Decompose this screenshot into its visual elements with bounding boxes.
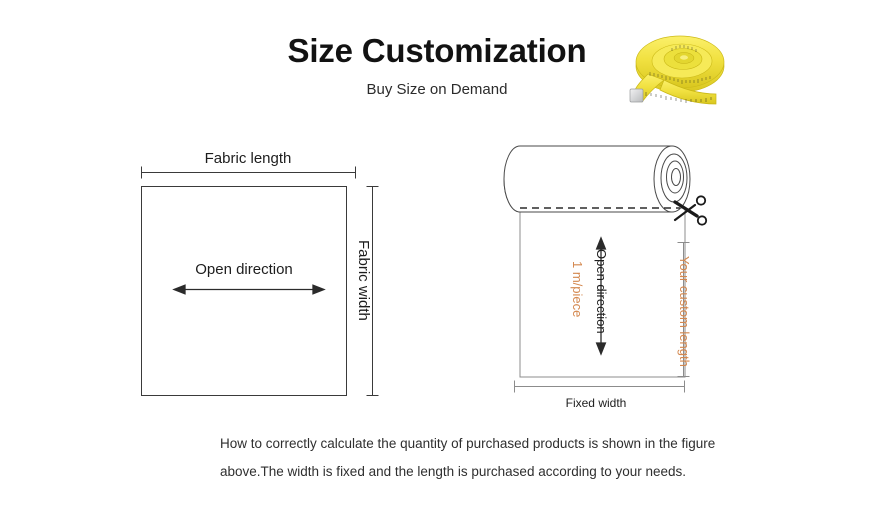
open-direction-label-left: Open direction (141, 261, 347, 278)
custom-length-label: Your custom length (678, 256, 691, 367)
page-subtitle: Buy Size on Demand (0, 81, 874, 98)
open-direction-label-right: Open direction (595, 249, 608, 334)
tape-measure-icon (618, 28, 730, 120)
fabric-width-label: Fabric width (356, 240, 371, 321)
fixed-width-dimension-line (515, 381, 685, 393)
caption-text: How to correctly calculate the quantity … (220, 430, 720, 485)
fabric-length-dimension-line (135, 164, 363, 182)
fabric-roll-diagram (498, 130, 733, 420)
size-customization-infographic: Size Customization Buy Size on Demand (0, 0, 874, 509)
page-title: Size Customization (0, 33, 874, 69)
open-direction-arrow-left (170, 281, 328, 298)
per-piece-length-label: 1 m/piece (571, 261, 584, 317)
fixed-width-label: Fixed width (508, 396, 684, 410)
